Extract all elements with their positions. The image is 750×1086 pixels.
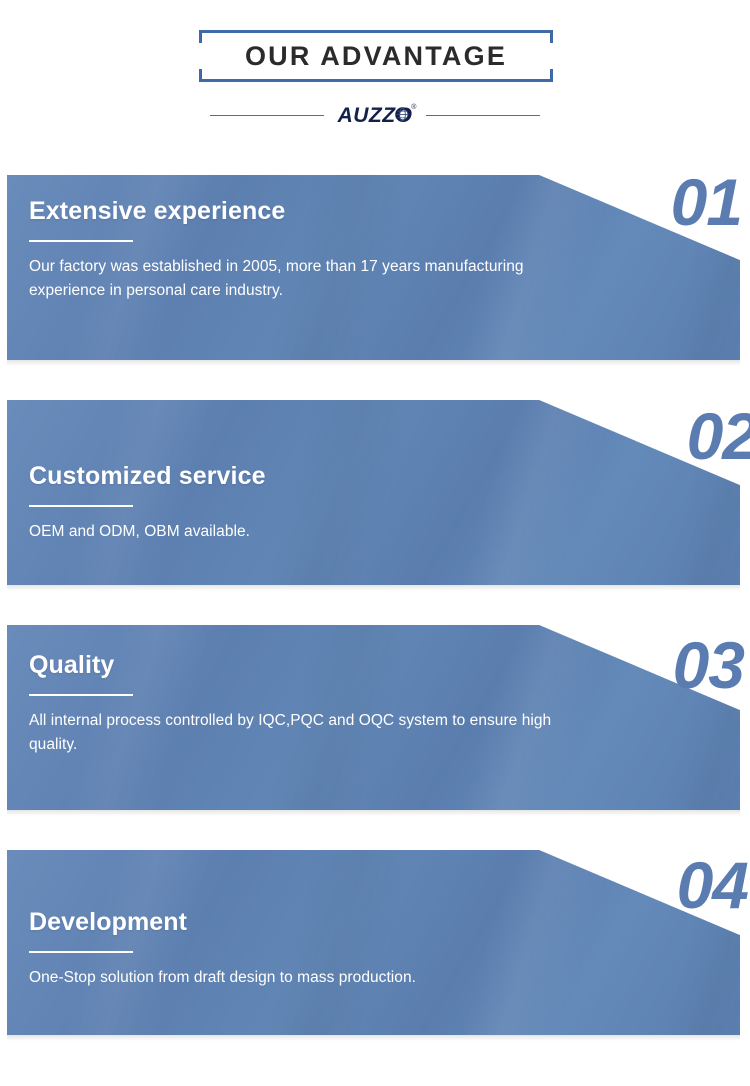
card-shadow (7, 360, 740, 366)
card-description: Our factory was established in 2005, mor… (29, 255, 569, 303)
card-divider (29, 240, 133, 242)
advantage-card: 03 Quality All internal process controll… (0, 610, 750, 835)
card-title: Extensive experience (29, 198, 569, 226)
page-title: OUR ADVANTAGE (199, 30, 553, 82)
card-content: Extensive experience Our factory was est… (29, 198, 569, 303)
card-shadow (7, 585, 740, 591)
brand-rule-right (426, 115, 540, 116)
card-divider (29, 951, 133, 953)
advantage-card-list: 01 Extensive experience Our factory was … (0, 160, 750, 1060)
card-number: 02 (687, 403, 750, 469)
card-divider (29, 505, 133, 507)
card-content: Customized service OEM and ODM, OBM avai… (29, 463, 569, 544)
card-description: OEM and ODM, OBM available. (29, 520, 569, 544)
card-description: One-Stop solution from draft design to m… (29, 966, 569, 990)
card-number: 01 (671, 169, 742, 235)
auzzo-logo: AUZZO ® (324, 100, 427, 130)
advantage-card: 04 Development One-Stop solution from dr… (0, 835, 750, 1060)
page-header: OUR ADVANTAGE AUZZO ® (0, 0, 750, 160)
card-description: All internal process controlled by IQC,P… (29, 709, 569, 757)
card-divider (29, 694, 133, 696)
brand-row: AUZZO ® (195, 100, 555, 130)
card-title: Development (29, 909, 569, 937)
card-content: Development One-Stop solution from draft… (29, 909, 569, 990)
globe-icon (395, 107, 410, 122)
registered-mark: ® (411, 104, 416, 111)
title-frame: OUR ADVANTAGE (199, 30, 553, 82)
card-content: Quality All internal process controlled … (29, 652, 569, 757)
advantage-card: 02 Customized service OEM and ODM, OBM a… (0, 385, 750, 610)
card-number: 04 (677, 852, 748, 918)
card-number: 03 (673, 632, 744, 698)
card-shadow (7, 1035, 740, 1041)
advantage-page: OUR ADVANTAGE AUZZO ® (0, 0, 750, 160)
brand-rule-left (210, 115, 324, 116)
advantage-card: 01 Extensive experience Our factory was … (0, 160, 750, 385)
card-title: Quality (29, 652, 569, 680)
card-title: Customized service (29, 463, 569, 491)
card-shadow (7, 810, 740, 816)
